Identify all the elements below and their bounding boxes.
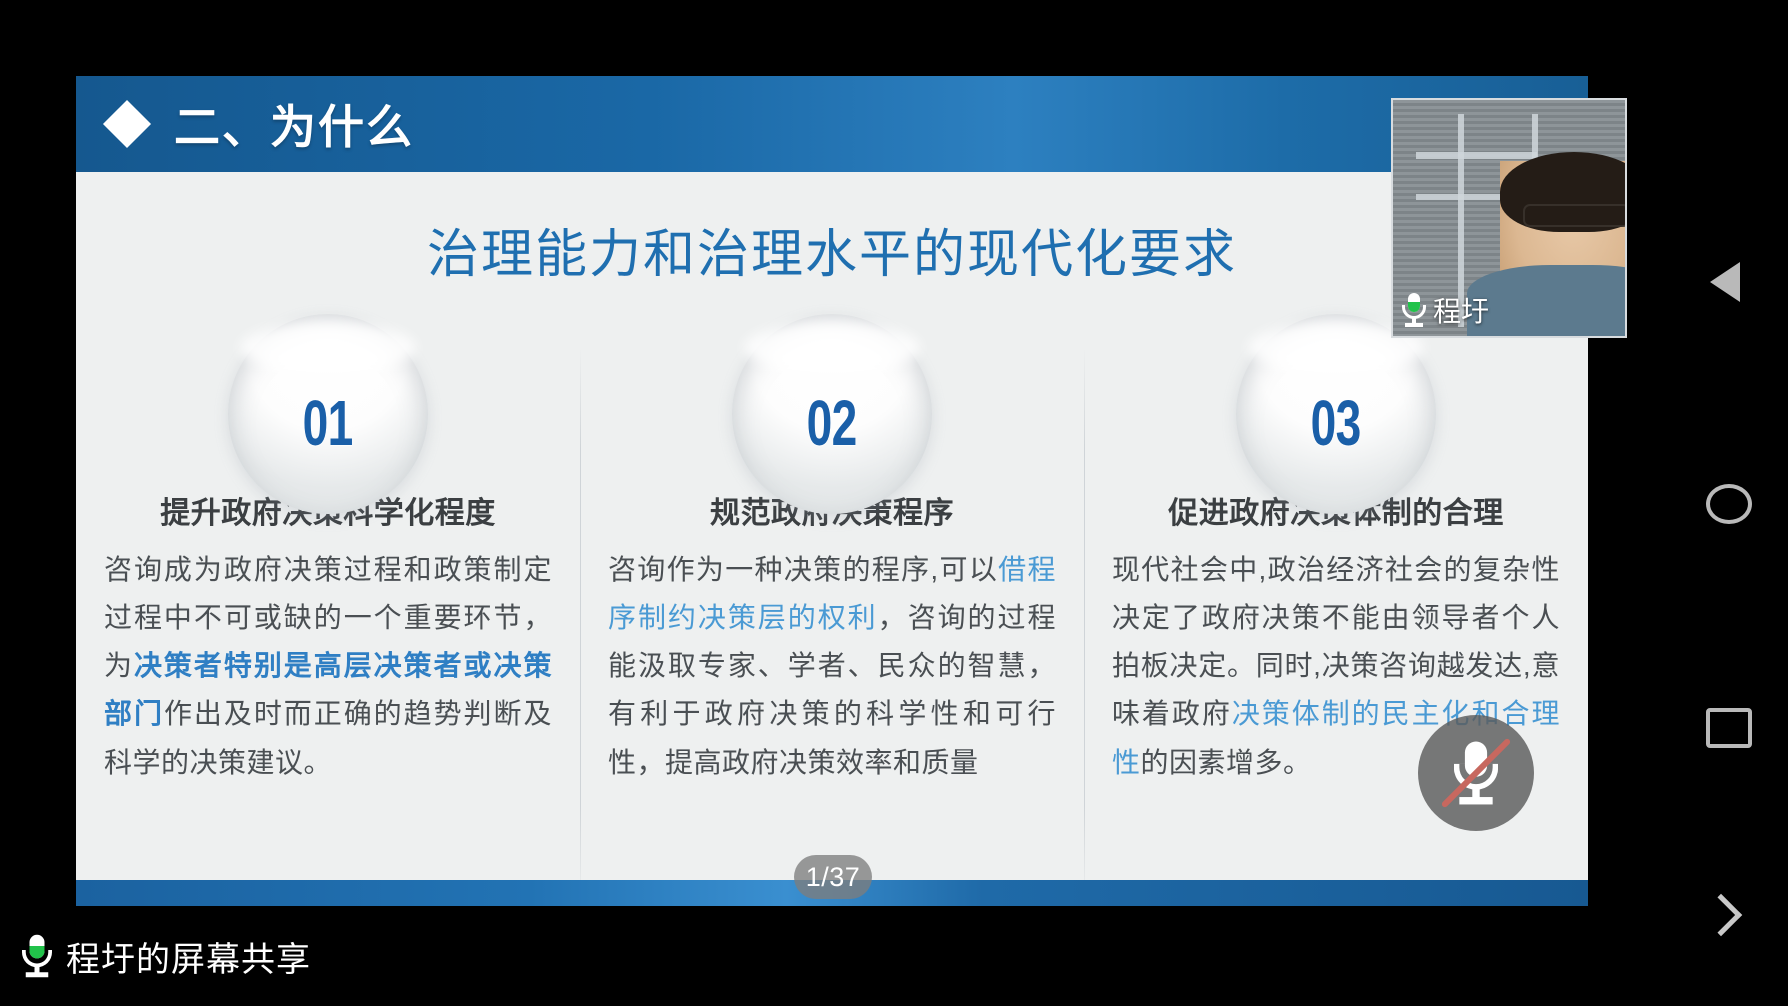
video-person-glasses: [1523, 204, 1627, 228]
slide-columns: 01 提升政府决策科学化程度 咨询成为政府决策过程和政策制定过程中不可或缺的一个…: [76, 322, 1588, 787]
circle-home-icon[interactable]: [1706, 484, 1752, 524]
column-number-3: 03: [1311, 393, 1361, 454]
column-number-1: 01: [303, 393, 353, 454]
column-number-badge-1: 01: [98, 322, 558, 454]
column-body-1: 咨询成为政府决策过程和政策制定过程中不可或缺的一个重要环节，为决策者特别是高层决…: [98, 546, 558, 787]
column-number-badge-2: 02: [602, 322, 1062, 454]
page-indicator: 1/37: [794, 855, 872, 899]
slide-column-3: 03 促进政府决策体制的合理 现代社会中,政治经济社会的复杂性决定了政府决策不能…: [1084, 322, 1588, 787]
slide-main-title: 治理能力和治理水平的现代化要求: [76, 212, 1588, 287]
participant-name: 程圩: [1433, 290, 1489, 330]
column-3-text-part-3: 的因素增多。: [1140, 747, 1311, 778]
triangle-back-icon[interactable]: [1710, 262, 1740, 302]
column-number-badge-3: 03: [1106, 322, 1566, 454]
diamond-bullet-icon: [103, 100, 151, 148]
column-number-2: 02: [807, 393, 857, 454]
column-body-2: 咨询作为一种决策的程序,可以借程序制约决策层的权利，咨询的过程能汲取专家、学者、…: [602, 546, 1062, 787]
video-detail: [1416, 152, 1537, 159]
microphone-icon[interactable]: [21, 935, 54, 978]
square-recents-icon[interactable]: [1706, 708, 1752, 748]
video-person-shirt: [1467, 265, 1627, 336]
shared-slide[interactable]: 二、为什么 治理能力和治理水平的现代化要求 01 提升政府决策科学化程度 咨询成…: [76, 76, 1588, 906]
mute-toggle-button[interactable]: [1418, 715, 1534, 831]
slide-body: 治理能力和治理水平的现代化要求 01 提升政府决策科学化程度 咨询成为政府决策过…: [76, 172, 1588, 880]
presenter-video-thumbnail[interactable]: 程圩: [1391, 98, 1627, 338]
column-2-text-part-1: 咨询作为一种决策的程序,可以: [608, 554, 998, 585]
screen-share-status-text: 程圩的屏幕共享: [66, 932, 311, 981]
screen-share-status-bar: 程圩的屏幕共享: [0, 906, 1788, 1006]
column-1-text-part-3: 作出及时而正确的趋势判断及科学的决策建议。: [104, 698, 552, 777]
slide-column-1: 01 提升政府决策科学化程度 咨询成为政府决策过程和政策制定过程中不可或缺的一个…: [76, 322, 580, 787]
slide-header-banner: 二、为什么: [76, 76, 1588, 172]
video-name-label: 程圩: [1401, 290, 1489, 330]
screen-share-viewer: 二、为什么 治理能力和治理水平的现代化要求 01 提升政府决策科学化程度 咨询成…: [0, 0, 1788, 1006]
slide-header-title: 二、为什么: [174, 91, 414, 157]
slide-column-2: 02 规范政府决策程序 咨询作为一种决策的程序,可以借程序制约决策层的权利，咨询…: [580, 322, 1084, 787]
microphone-icon: [1401, 293, 1427, 327]
